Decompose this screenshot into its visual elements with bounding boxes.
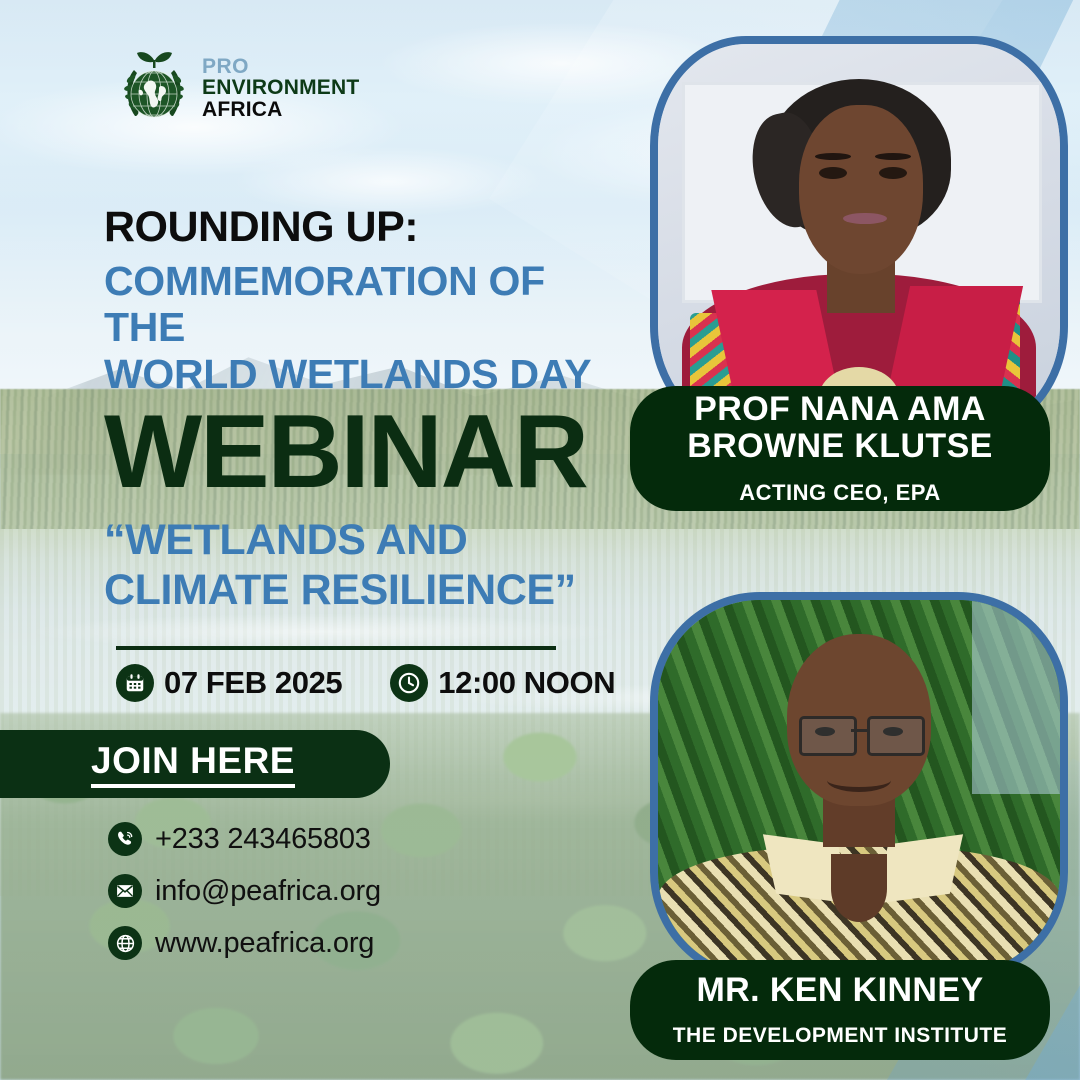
brand-logo[interactable]: PRO ENVIRONMENT AFRICA: [115, 46, 359, 130]
speaker-2-role: THE DEVELOPMENT INSTITUTE: [673, 1024, 1008, 1048]
subheadline-line-2: WORLD WETLANDS DAY: [104, 351, 634, 397]
join-here-button[interactable]: JOIN HERE: [0, 730, 390, 798]
photo2-sky-patch: [972, 600, 1060, 794]
subheadline: COMMEMORATION OF THE WORLD WETLANDS DAY: [104, 258, 634, 397]
speaker-1-role: ACTING CEO, EPA: [739, 480, 940, 506]
headline-block: ROUNDING UP: COMMEMORATION OF THE WORLD …: [104, 205, 634, 702]
speaker-1-name-line-1: PROF NANA AMA: [687, 391, 993, 428]
photo2-smile: [827, 768, 891, 792]
speaker-2-photo: [650, 592, 1068, 982]
topic-line-2: CLIMATE RESILIENCE”: [104, 566, 634, 616]
speaker-1-name-line-2: BROWNE KLUTSE: [687, 428, 993, 465]
speaker-card-2: MR. KEN KINNEY THE DEVELOPMENT INSTITUTE: [650, 592, 1068, 982]
globe-icon: [108, 926, 142, 960]
photo2-glasses-bridge: [851, 729, 867, 732]
event-meta: 07 FEB 2025 12:00 NOON: [116, 664, 634, 702]
mail-icon: [108, 874, 142, 908]
event-time: 12:00 NOON: [390, 664, 615, 702]
speaker-2-nameplate: MR. KEN KINNEY THE DEVELOPMENT INSTITUTE: [630, 960, 1050, 1060]
contact-email[interactable]: info@peafrica.org: [108, 874, 381, 908]
speaker-1-photo: [650, 36, 1068, 436]
webinar-topic: “WETLANDS AND CLIMATE RESILIENCE”: [104, 516, 634, 616]
calendar-icon: [116, 664, 154, 702]
logo-line-pro: PRO: [202, 56, 359, 77]
webinar-flyer: PRO ENVIRONMENT AFRICA ROUNDING UP: COMM…: [0, 0, 1080, 1080]
contact-website-text: www.peafrica.org: [155, 927, 374, 960]
page-title: WEBINAR: [104, 403, 634, 502]
photo2-glasses-right: [867, 716, 925, 756]
logo-line-environment: ENVIRONMENT: [202, 77, 359, 98]
logo-line-africa: AFRICA: [202, 99, 359, 120]
event-date: 07 FEB 2025: [116, 664, 342, 702]
contact-email-text: info@peafrica.org: [155, 875, 381, 908]
speaker-1-name: PROF NANA AMA BROWNE KLUTSE: [687, 391, 993, 466]
phone-icon: [108, 822, 142, 856]
topic-line-1: “WETLANDS AND: [104, 516, 634, 566]
speaker-2-name: MR. KEN KINNEY: [696, 972, 983, 1009]
speaker-1-nameplate: PROF NANA AMA BROWNE KLUTSE ACTING CEO, …: [630, 386, 1050, 511]
photo2-glasses-left: [799, 716, 857, 756]
event-time-text: 12:00 NOON: [438, 665, 615, 701]
divider: [116, 646, 556, 650]
globe-leaf-laurel-icon: [115, 46, 193, 130]
contact-phone[interactable]: +233 243465803: [108, 822, 381, 856]
photo1-eye-left: [819, 167, 847, 179]
join-here-label: JOIN HERE: [91, 740, 295, 788]
event-date-text: 07 FEB 2025: [164, 665, 342, 701]
subheadline-line-1: COMMEMORATION OF THE: [104, 258, 634, 351]
eyebrow-text: ROUNDING UP:: [104, 205, 634, 250]
photo2-neckline: [831, 854, 887, 921]
contact-phone-text: +233 243465803: [155, 823, 371, 856]
photo1-face: [799, 105, 924, 274]
clock-icon: [390, 664, 428, 702]
speaker-card-1: PROF NANA AMA BROWNE KLUTSE ACTING CEO, …: [650, 36, 1068, 436]
contact-list: +233 243465803 info@peafrica.org: [108, 822, 381, 978]
contact-website[interactable]: www.peafrica.org: [108, 926, 381, 960]
